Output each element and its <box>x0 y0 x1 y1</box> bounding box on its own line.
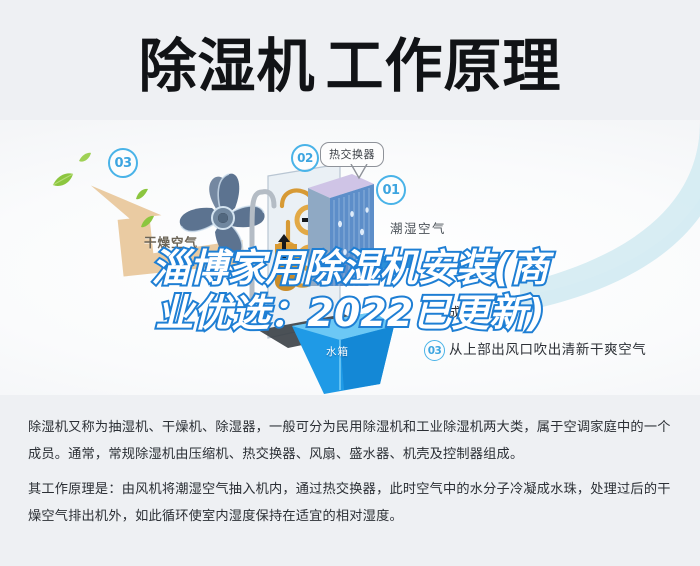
leaf-icon <box>52 172 74 188</box>
leaf-icon <box>78 152 92 163</box>
badge-03-outlet: 03 <box>424 340 445 361</box>
article-paragraph-2: 其工作原理是：由风机将潮湿空气抽入机内，通过热交换器，此时空气中的水分子冷凝成水… <box>28 476 676 530</box>
page-title: 除湿机工作原理 <box>0 30 700 102</box>
page-root: 除湿机工作原理 干燥空气 <box>0 0 700 566</box>
badge-02-heat-exchanger: 02 <box>291 144 319 172</box>
leaf-icon <box>140 215 155 228</box>
article-paragraph-1: 除湿机又称为抽湿机、干燥机、除湿器，一般可分为民用除湿机和工业除湿机两大类，属于… <box>28 414 676 468</box>
leaf-icon <box>135 188 149 200</box>
overlay-line-1: 淄博家用除湿机安装(商 <box>0 246 700 291</box>
water-tank-label: 水箱 <box>326 344 349 359</box>
badge-03-dry-air: 03 <box>108 148 138 178</box>
overlay-line-2: 业优选：2022已更新) <box>0 291 700 336</box>
article-body: 除湿机又称为抽湿机、干燥机、除湿器，一般可分为民用除湿机和工业除湿机两大类，属于… <box>28 414 676 530</box>
page-title-part2: 工作原理 <box>326 32 562 100</box>
callout-pointer-icon <box>350 164 368 180</box>
overlay-watermark-text: 淄博家用除湿机安装(商 业优选：2022已更新) <box>0 246 700 336</box>
page-title-part1: 除湿机 <box>138 32 315 100</box>
humid-air-label: 潮湿空气 <box>390 218 446 237</box>
outlet-caption: 从上部出风口吹出清新干爽空气 <box>449 338 646 358</box>
badge-01-humid-air: 01 <box>376 175 406 205</box>
